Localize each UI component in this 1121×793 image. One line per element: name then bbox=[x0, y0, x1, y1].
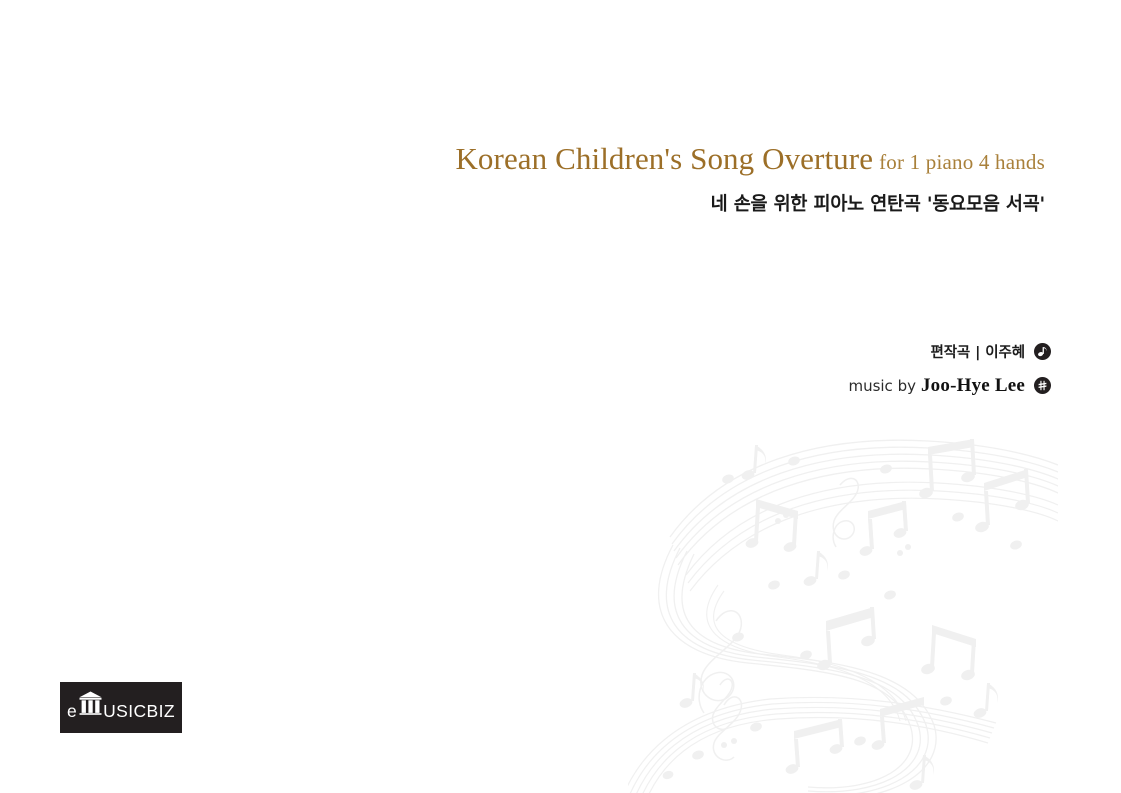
composer-name: Joo-Hye Lee bbox=[916, 375, 1025, 397]
logo-text-before: e bbox=[67, 703, 77, 720]
title-block: Korean Children's Song Overturefor 1 pia… bbox=[0, 140, 1045, 216]
cover-page: Korean Children's Song Overturefor 1 pia… bbox=[0, 0, 1121, 793]
logo-wordmark: e USICBIZ bbox=[67, 696, 175, 720]
main-title-text: Korean Children's Song Overture bbox=[455, 141, 873, 176]
arranger-credit-text: 편작곡 | 이주혜 bbox=[930, 341, 1025, 362]
page-title: Korean Children's Song Overturefor 1 pia… bbox=[0, 140, 1045, 181]
instrumentation-text: for 1 piano 4 hands bbox=[873, 150, 1045, 174]
logo-text-after: USICBIZ bbox=[103, 703, 175, 720]
publisher-logo[interactable]: e USICBIZ bbox=[60, 682, 182, 733]
sharp-note-icon bbox=[1034, 377, 1051, 394]
eighth-note-icon bbox=[1034, 343, 1051, 360]
musical-staff-swirl-watermark bbox=[628, 425, 1058, 793]
greek-temple-icon bbox=[78, 691, 103, 720]
arranger-credit-line: 편작곡 | 이주혜 bbox=[0, 338, 1051, 365]
composer-credit-line: music by Joo-Hye Lee bbox=[0, 372, 1051, 399]
credits-block: 편작곡 | 이주혜 music by Joo-Hye Lee bbox=[0, 338, 1051, 399]
korean-subtitle: 네 손을 위한 피아노 연탄곡 '동요모음 서곡' bbox=[0, 190, 1045, 216]
composer-credit-prefix: music by bbox=[848, 377, 916, 395]
